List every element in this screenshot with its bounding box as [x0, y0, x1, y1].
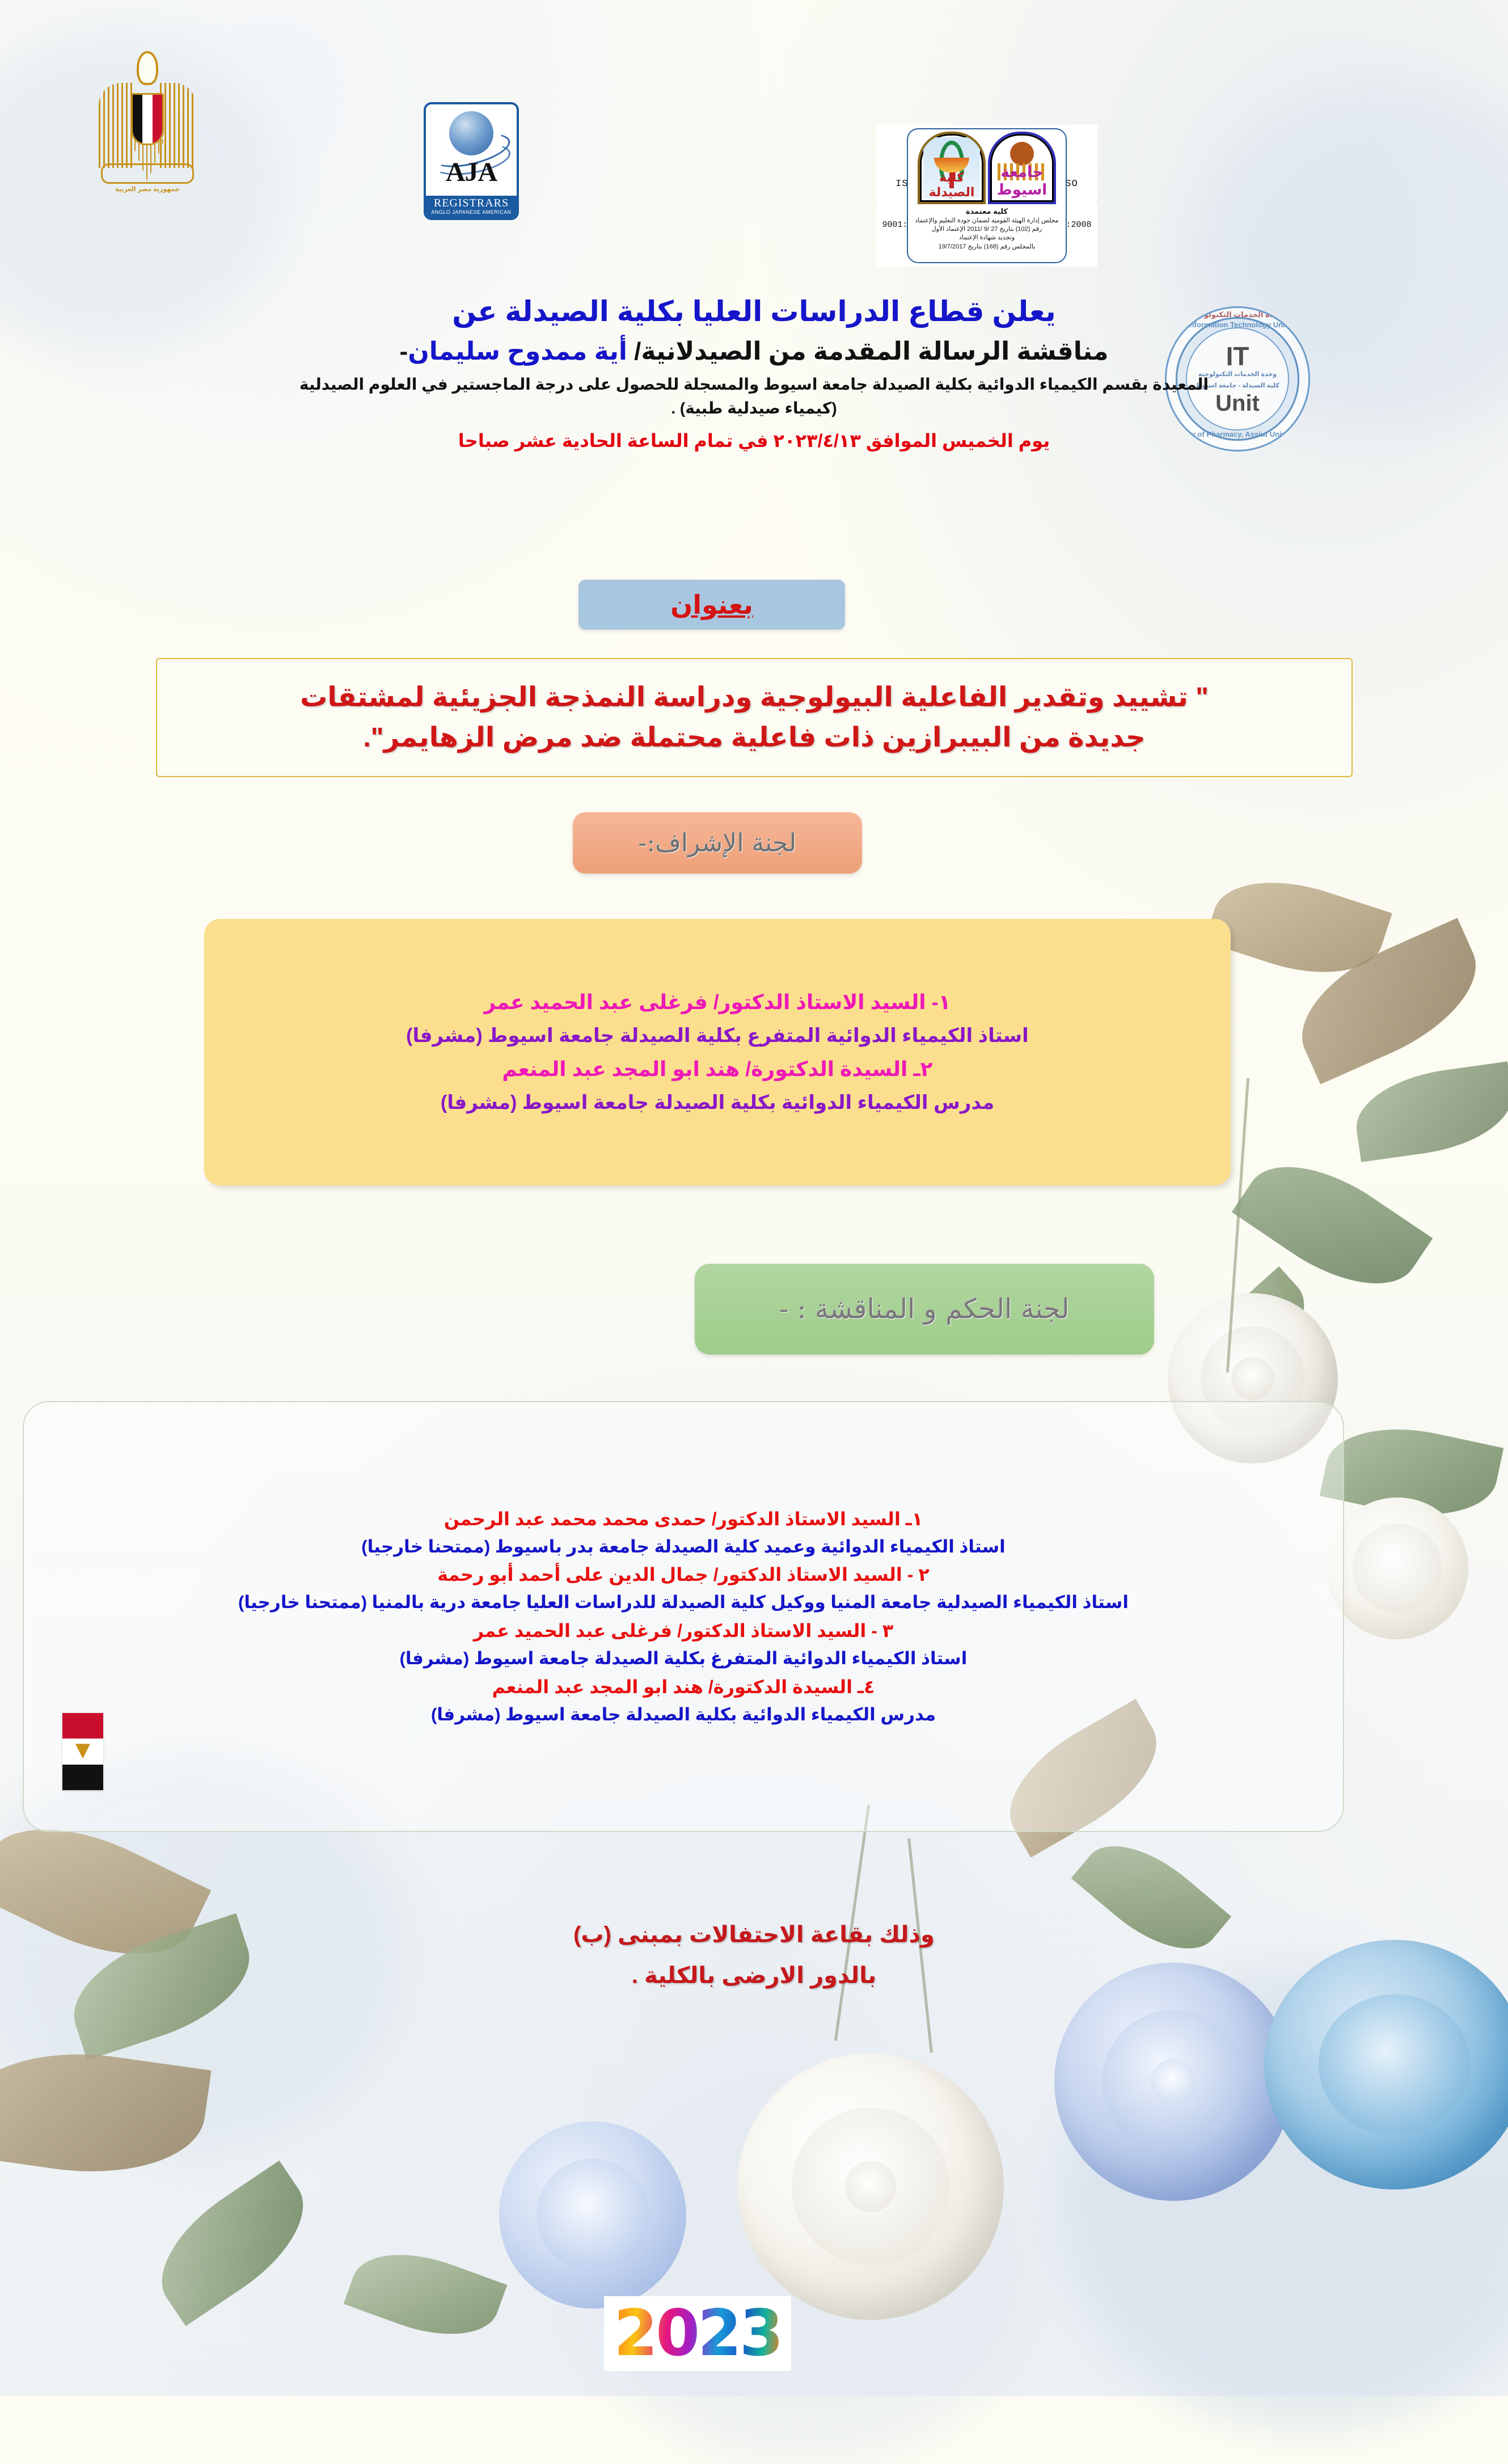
announcement-line-2-prefix: مناقشة الرسالة المقدمة من الصيدلانية/ [627, 337, 1109, 365]
leaf-decoration [1173, 1266, 1326, 1414]
eagle-wing-right-icon [160, 83, 196, 168]
accreditation-caption: كلية معتمدة مجلس إدارة الهيئة القومية لض… [908, 204, 1066, 255]
thesis-title-badge-label: بعنوان [670, 589, 753, 620]
judging-committee-badge-label: لجنة الحكم و المناقشة : - [779, 1293, 1069, 1325]
judge-affiliation: استاذ الكيمياء الدوائية المتفرغ بكلية ال… [400, 1648, 968, 1670]
announcement-line-3: المعيدة بقسم الكيمياء الدوائية بكلية الص… [0, 374, 1508, 395]
leaf-decoration [344, 2234, 508, 2354]
announcement-header: يعلن قطاع الدراسات العليا بكلية الصيدلة … [0, 295, 1508, 452]
venue-line-1-wrap: وذلك بقاعة الاحتفالات بمبنى (ب) [0, 1922, 1508, 1948]
supervision-committee-box: ١- السيد الاستاذ الدكتور/ فرغلى عبد الحم… [204, 919, 1231, 1185]
logo-row: جمهورية مصر العربية AJA REGISTRARS ANGLO… [0, 40, 1508, 233]
judging-committee-box: ١ـ السيد الاستاذ الدكتور/ حمدى محمد محمد… [23, 1401, 1344, 1832]
leaf-decoration [1281, 918, 1497, 1085]
judge-name: ٣ - السيد الاستاذ الدكتور/ فرغلى عبد الح… [474, 1619, 894, 1642]
accreditation-line-2: رقم (102) بتاريخ 27 /9 /2011 الإعتماد ال… [914, 225, 1060, 234]
watercolor-blob [573, 2067, 1038, 2464]
leaf-decoration [1232, 1137, 1433, 1314]
supervision-committee-badge-label: لجنة الإشراف:- [639, 829, 797, 858]
venue-line-2: بالدور الارضى بالكلية . [632, 1963, 876, 1988]
judge-name: ١ـ السيد الاستاذ الدكتور/ حمدى محمد محمد… [444, 1508, 923, 1530]
leaf-decoration [0, 2037, 212, 2188]
leaf-decoration [1350, 1061, 1508, 1162]
supervision-committee-badge: لجنة الإشراف:- [573, 812, 862, 874]
crest-pair: جامعة اسيوط كلية الصيدلة [908, 129, 1066, 204]
candidate-name: أية ممدوح سليمان [408, 337, 627, 365]
egypt-flag-shield-icon [131, 93, 164, 145]
venue-line-2-wrap: بالدور الارضى بالكلية . [0, 1963, 1508, 1989]
supervisor-name: ٢ـ السيدة الدكتورة/ هند ابو المجد عبد ال… [502, 1057, 932, 1081]
leaf-decoration [1071, 1822, 1232, 1973]
judging-committee-badge: لجنة الحكم و المناقشة : - [695, 1264, 1154, 1355]
egypt-emblem-caption: جمهورية مصر العربية [96, 185, 198, 193]
judge-affiliation: استاذ الكيمياء الصيدلية جامعة المنيا ووك… [238, 1592, 1129, 1614]
announcement-line-4: (كيمياء صيدلية طبية) . [0, 399, 1508, 417]
defense-date-time: يوم الخميس الموافق ٢٠٢٣/٤/١٣ في تمام الس… [0, 430, 1508, 452]
announcement-line-2: مناقشة الرسالة المقدمة من الصيدلانية/ أي… [0, 337, 1508, 366]
accreditation-title: كلية معتمدة [914, 206, 1060, 217]
accreditation-line-4: بالمجلس رقم (168) بتاريخ 19/7/2017 [914, 243, 1060, 251]
thesis-title-line-1: " تشييد وتقدير الفاعلية البيولوجية ودراس… [300, 677, 1209, 718]
egypt-flag-icon [62, 1713, 103, 1790]
sun-icon [1010, 142, 1034, 166]
aja-footer: REGISTRARS ANGLO JAPANESE AMERICAN [426, 196, 517, 218]
supervisor-name: ١- السيد الاستاذ الدكتور/ فرغلى عبد الحم… [484, 990, 951, 1014]
judge-affiliation: مدرس الكيمياء الدوائية بكلية الصيدلة جام… [431, 1704, 936, 1726]
accreditation-line-1: مجلس إدارة الهيئة القومية لضمان جودة الت… [914, 217, 1060, 225]
year-label: 2023 [614, 2297, 782, 2370]
eagle-head-icon [137, 51, 158, 85]
announcement-line-1: يعلن قطاع الدراسات العليا بكلية الصيدلة … [0, 295, 1508, 328]
watercolor-blob [1054, 1965, 1508, 2430]
thesis-title-line-2: جديدة من البيبرازين ذات فاعلية محتملة ضد… [363, 718, 1145, 758]
year-graphic: 2023 [604, 2296, 791, 2371]
eagle-wing-left-icon [99, 83, 135, 168]
supervisor-affiliation: استاذ الكيمياء الدوائية المتفرع بكلية ال… [406, 1024, 1029, 1047]
aja-tagline: ANGLO JAPANESE AMERICAN [426, 209, 517, 215]
aja-acronym: AJA [426, 159, 517, 186]
blue-rose-decoration [499, 2121, 686, 2309]
faculty-of-pharmacy-crest-icon: كلية الصيدلة [918, 132, 986, 204]
aja-registrars-logo: AJA REGISTRARS ANGLO JAPANESE AMERICAN [428, 102, 519, 216]
egypt-eagle-emblem-icon: جمهورية مصر العربية [96, 51, 198, 193]
crest-faculty-label: كلية الصيدلة [920, 170, 983, 200]
judge-name: ٢ - السيد الاستاذ الدكتور/ جمال الدين عل… [437, 1563, 930, 1586]
accreditation-line-3: وتجديد شهادة الإعتماد [914, 234, 1060, 242]
leaf-decoration [138, 2161, 327, 2326]
blue-rose-decoration [1054, 1963, 1292, 2201]
leaf-decoration [1320, 1412, 1504, 1531]
venue-line-1: وذلك بقاعة الاحتفالات بمبنى (ب) [573, 1922, 935, 1947]
aja-registrars-label: REGISTRARS [426, 197, 517, 209]
thesis-title-badge: بعنوان [578, 580, 845, 630]
leaf-decoration [1204, 860, 1392, 994]
assiut-university-crest-icon: جامعة اسيوط [988, 132, 1056, 204]
announcement-line-2-suffix: - [400, 337, 408, 365]
white-rose-decoration [1327, 1497, 1468, 1639]
thesis-title-box: " تشييد وتقدير الفاعلية البيولوجية ودراس… [156, 658, 1353, 777]
eagle-scroll-icon [101, 163, 194, 184]
crest-university-label: جامعة اسيوط [990, 163, 1054, 199]
white-rose-decoration [737, 2053, 1004, 2320]
judge-affiliation: استاذ الكيمياء الدوائية وعميد كلية الصيد… [361, 1536, 1006, 1558]
iso-inner-plate: جامعة اسيوط كلية الصيدلة كلية معتمدة مجل… [907, 128, 1067, 263]
supervisor-affiliation: مدرس الكيمياء الدوائية بكلية الصيدلة جام… [441, 1091, 994, 1114]
iso-accreditation-logo: ISO 9001:2015 ISO 9001:2008 جامعة اسيوط [876, 125, 1097, 267]
judge-name: ٤ـ السيدة الدكتورة/ هند ابو المجد عبد ال… [492, 1676, 875, 1698]
